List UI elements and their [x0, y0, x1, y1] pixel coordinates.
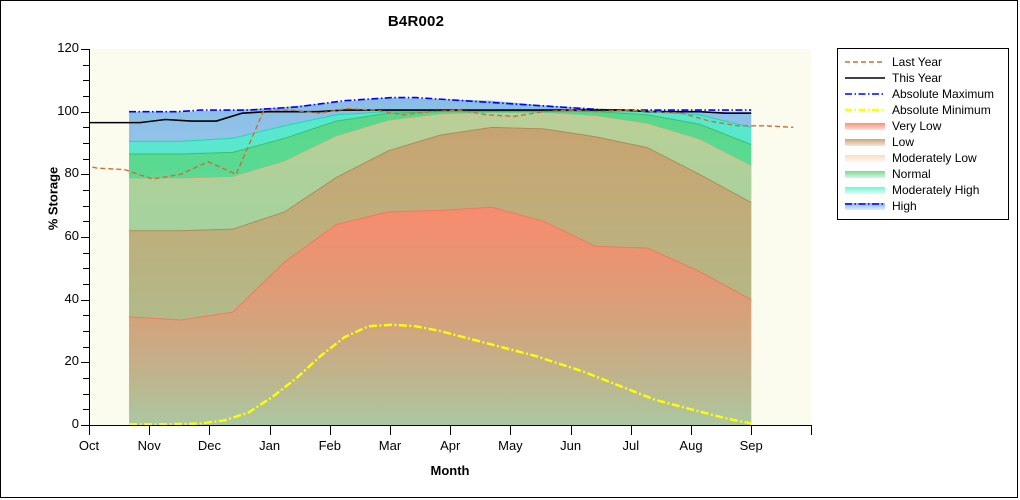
chart-legend: Last YearThis YearAbsolute MaximumAbsolu… — [837, 48, 1009, 220]
y-tick-major — [81, 112, 90, 113]
legend-swatch-icon — [844, 136, 886, 148]
legend-item-absolute-maximum[interactable]: Absolute Maximum — [842, 86, 1004, 102]
y-tick-minor — [83, 268, 90, 269]
y-tick-label: 60 — [1, 228, 79, 243]
legend-item-this-year[interactable]: This Year — [842, 70, 1004, 86]
y-tick-label: 100 — [1, 103, 79, 118]
y-tick-label: 40 — [1, 291, 79, 306]
y-tick-minor — [83, 347, 90, 348]
y-tick-minor — [83, 378, 90, 379]
legend-swatch-icon — [844, 152, 886, 164]
y-tick-label: 20 — [1, 353, 79, 368]
legend-item-low[interactable]: Low — [842, 134, 1004, 150]
y-tick-minor — [83, 80, 90, 81]
y-tick-minor — [83, 284, 90, 285]
x-tick-label: Dec — [179, 438, 239, 453]
x-tick-label: May — [480, 438, 540, 453]
legend-swatch-icon — [844, 200, 886, 212]
plot-area — [89, 49, 811, 425]
legend-label: High — [892, 200, 917, 212]
legend-label: Last Year — [892, 56, 942, 68]
legend-label: Absolute Maximum — [892, 88, 994, 100]
x-tick — [571, 426, 572, 435]
y-tick-minor — [83, 315, 90, 316]
x-tick — [450, 426, 451, 435]
x-tick — [751, 426, 752, 435]
y-tick-minor — [83, 127, 90, 128]
legend-swatch-icon — [844, 104, 886, 116]
legend-item-moderately-low[interactable]: Moderately Low — [842, 150, 1004, 166]
x-tick — [631, 426, 632, 435]
x-tick — [209, 426, 210, 435]
x-tick — [691, 426, 692, 435]
x-tick-label: Sep — [721, 438, 781, 453]
x-tick — [270, 426, 271, 435]
chart-window: B4R002 % Storage 020406080100120 OctNovD… — [0, 0, 1018, 498]
legend-swatch-icon — [844, 120, 886, 132]
legend-item-normal[interactable]: Normal — [842, 166, 1004, 182]
y-tick-minor — [83, 331, 90, 332]
legend-swatch-icon — [844, 88, 886, 100]
y-tick-minor — [83, 143, 90, 144]
x-tick-label: Jan — [240, 438, 300, 453]
legend-label: Very Low — [892, 120, 941, 132]
legend-item-high[interactable]: High — [842, 198, 1004, 214]
x-tick-label: Mar — [360, 438, 420, 453]
y-tick-label: 80 — [1, 165, 79, 180]
y-tick-major — [81, 174, 90, 175]
legend-swatch-icon — [844, 72, 886, 84]
legend-item-very-low[interactable]: Very Low — [842, 118, 1004, 134]
y-tick-minor — [83, 190, 90, 191]
legend-swatch-icon — [844, 56, 886, 68]
y-tick-minor — [83, 96, 90, 97]
legend-swatch-icon — [844, 184, 886, 196]
x-tick-label: Aug — [661, 438, 721, 453]
x-tick-label: Feb — [300, 438, 360, 453]
y-tick-major — [81, 362, 90, 363]
legend-label: Moderately High — [892, 184, 979, 196]
y-tick-minor — [83, 206, 90, 207]
legend-label: This Year — [892, 72, 942, 84]
x-tick — [811, 426, 812, 435]
y-tick-label: 0 — [1, 416, 79, 431]
page-title: B4R002 — [1, 13, 831, 30]
x-tick-label: Apr — [420, 438, 480, 453]
x-tick-label: Oct — [59, 438, 119, 453]
legend-item-absolute-minimum[interactable]: Absolute Minimum — [842, 102, 1004, 118]
y-tick-major — [81, 49, 90, 50]
legend-item-last-year[interactable]: Last Year — [842, 54, 1004, 70]
legend-label: Absolute Minimum — [892, 104, 991, 116]
y-tick-minor — [83, 221, 90, 222]
x-tick — [149, 426, 150, 435]
x-tick — [89, 426, 90, 435]
y-tick-major — [81, 300, 90, 301]
y-tick-minor — [83, 409, 90, 410]
x-tick — [330, 426, 331, 435]
x-tick — [510, 426, 511, 435]
legend-item-moderately-high[interactable]: Moderately High — [842, 182, 1004, 198]
y-tick-minor — [83, 159, 90, 160]
x-tick-label: Nov — [119, 438, 179, 453]
x-tick-label: Jul — [601, 438, 661, 453]
y-tick-label: 120 — [1, 40, 79, 55]
x-axis-title: Month — [89, 463, 811, 478]
legend-label: Moderately Low — [892, 152, 977, 164]
x-tick — [390, 426, 391, 435]
y-tick-minor — [83, 253, 90, 254]
y-tick-minor — [83, 394, 90, 395]
y-tick-minor — [83, 65, 90, 66]
chart-canvas — [89, 49, 811, 425]
x-tick-label: Jun — [541, 438, 601, 453]
legend-label: Normal — [892, 168, 931, 180]
legend-swatch-icon — [844, 168, 886, 180]
y-tick-major — [81, 237, 90, 238]
legend-label: Low — [892, 136, 914, 148]
